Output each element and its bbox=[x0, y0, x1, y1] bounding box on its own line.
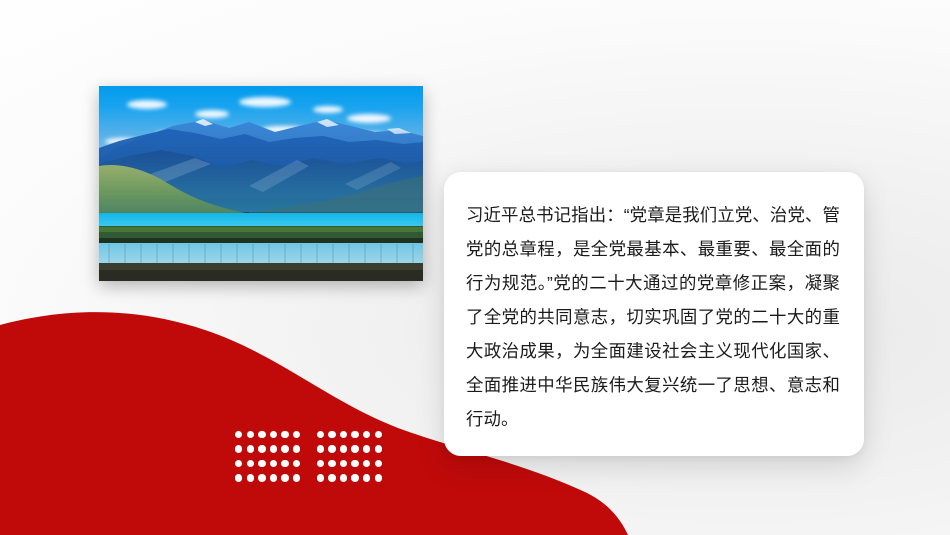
grid-dot bbox=[293, 460, 300, 467]
grid-dot bbox=[317, 474, 324, 481]
grid-dot bbox=[281, 460, 288, 467]
grid-dot bbox=[235, 460, 242, 467]
grid-dot bbox=[270, 445, 277, 452]
grid-dot bbox=[375, 474, 382, 481]
grid-dot bbox=[363, 445, 370, 452]
halftone-dot-grid bbox=[235, 427, 386, 485]
grid-dot bbox=[351, 460, 358, 467]
grid-dot bbox=[328, 445, 335, 452]
grid-dot bbox=[293, 445, 300, 452]
grid-dot bbox=[363, 431, 370, 438]
grid-dot bbox=[340, 431, 347, 438]
grid-dot bbox=[328, 431, 335, 438]
grid-dot bbox=[317, 445, 324, 452]
grid-dot bbox=[258, 460, 265, 467]
photo-mountains bbox=[99, 86, 423, 281]
grid-dot bbox=[258, 431, 265, 438]
grid-dot bbox=[247, 445, 254, 452]
grid-dot bbox=[351, 445, 358, 452]
grid-dot bbox=[281, 474, 288, 481]
grid-dot bbox=[235, 474, 242, 481]
grid-dot bbox=[281, 445, 288, 452]
grid-dot bbox=[340, 460, 347, 467]
grid-dot bbox=[375, 431, 382, 438]
grid-dot bbox=[340, 474, 347, 481]
grid-dot bbox=[247, 474, 254, 481]
grid-dot bbox=[351, 431, 358, 438]
slide-canvas: 习近平总书记指出：“党章是我们立党、治党、管党的总章程，是全党最基本、最重要、最… bbox=[0, 0, 950, 535]
grid-dot bbox=[247, 431, 254, 438]
grid-dot bbox=[258, 445, 265, 452]
quote-card: 习近平总书记指出：“党章是我们立党、治党、管党的总章程，是全党最基本、最重要、最… bbox=[444, 172, 864, 456]
grid-dot bbox=[328, 460, 335, 467]
grid-dot bbox=[258, 474, 265, 481]
landscape-photo bbox=[99, 86, 423, 281]
grid-dot bbox=[363, 460, 370, 467]
grid-dot bbox=[293, 431, 300, 438]
grid-dot bbox=[328, 474, 335, 481]
grid-dot bbox=[270, 431, 277, 438]
grid-dot bbox=[317, 431, 324, 438]
grid-dot bbox=[363, 474, 370, 481]
grid-dot bbox=[375, 445, 382, 452]
grid-dot bbox=[351, 474, 358, 481]
grid-dot bbox=[281, 431, 288, 438]
grid-dot bbox=[270, 460, 277, 467]
grid-dot bbox=[317, 460, 324, 467]
grid-dot bbox=[340, 445, 347, 452]
quote-text: 习近平总书记指出：“党章是我们立党、治党、管党的总章程，是全党最基本、最重要、最… bbox=[466, 198, 840, 436]
grid-dot bbox=[235, 431, 242, 438]
grid-dot bbox=[247, 460, 254, 467]
grid-dot bbox=[235, 445, 242, 452]
grid-dot bbox=[293, 474, 300, 481]
grid-dot bbox=[375, 460, 382, 467]
grid-dot bbox=[270, 474, 277, 481]
